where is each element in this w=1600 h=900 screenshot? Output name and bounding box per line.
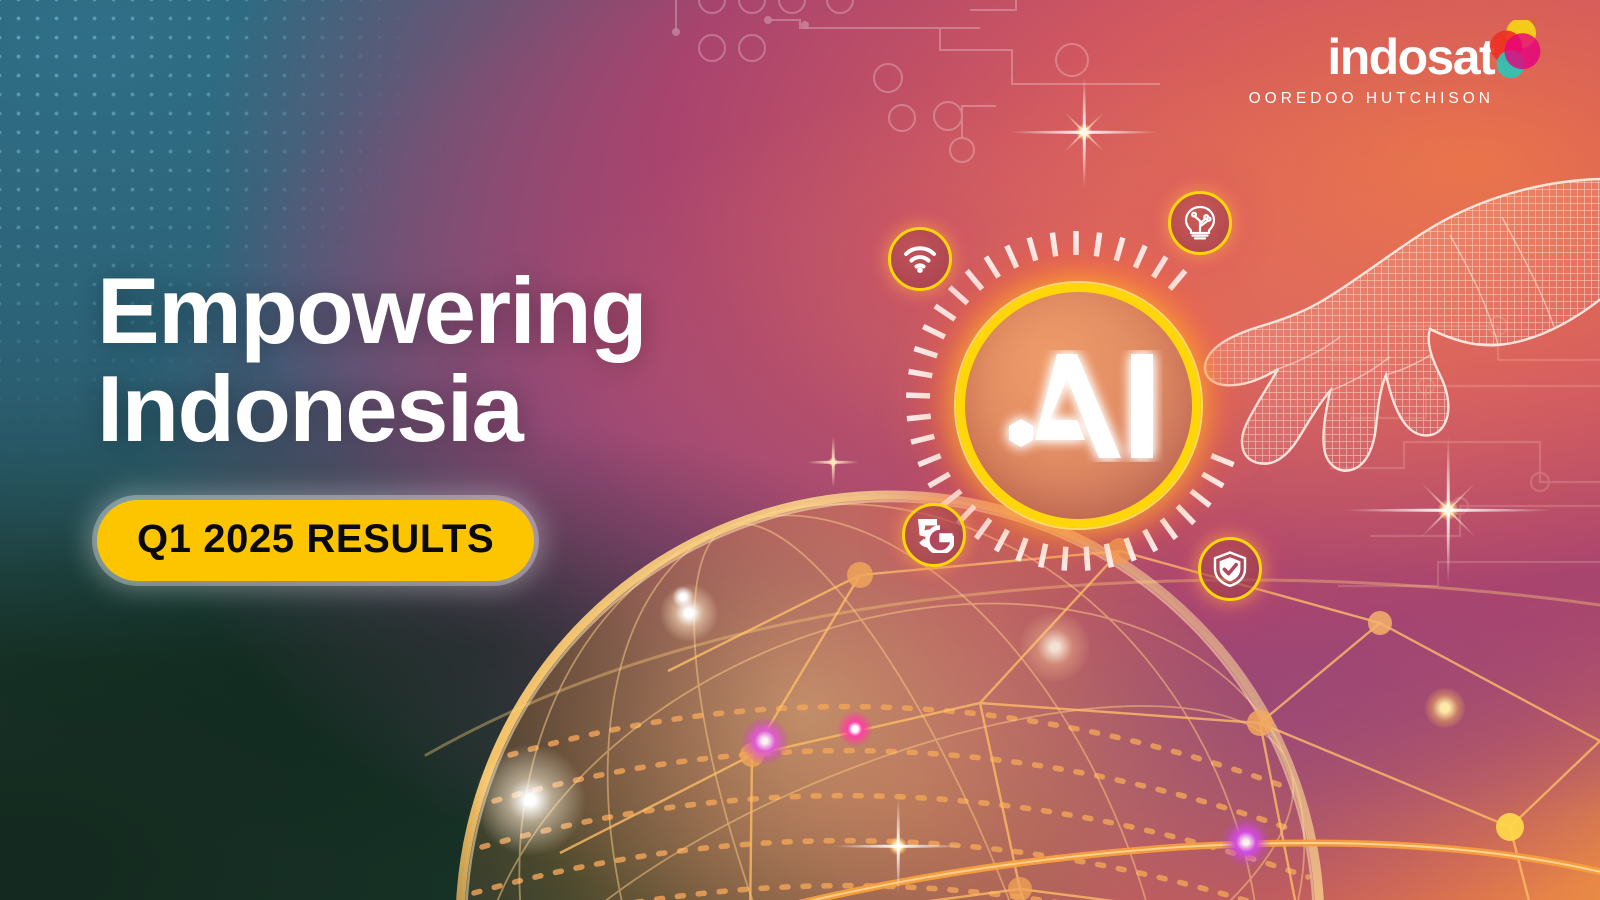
results-badge[interactable]: Q1 2025 RESULTS [97,500,534,581]
slide-canvas: Empowering Indonesia Q1 2025 RESULTS ind… [0,0,1600,900]
feature-icon-5g[interactable] [902,503,966,567]
headline-line-2: Indonesia [97,360,857,458]
shield-check-icon [1213,551,1247,587]
page-title: Empowering Indonesia [97,262,857,458]
brand-logo[interactable]: indosat OOREDOO HUTCHISON [1249,32,1494,108]
indosat-mark-icon [1484,20,1552,82]
ai-circle-badge[interactable] [956,283,1201,528]
headline-block: Empowering Indonesia Q1 2025 RESULTS [97,262,857,581]
logo-tagline: OOREDOO HUTCHISON [1249,90,1494,108]
feature-icon-shield[interactable] [1198,537,1262,601]
logo-wordmark: indosat [1249,32,1494,82]
wifi-icon [903,245,937,273]
ai-badge-cluster [880,185,1300,625]
five-g-icon [914,517,954,553]
headline-line-1: Empowering [97,258,646,363]
ai-letters-icon [995,350,1163,462]
lightbulb-circuit-icon [1183,205,1217,241]
feature-icon-wifi[interactable] [888,227,952,291]
feature-icon-lightbulb[interactable] [1168,191,1232,255]
ai-label [995,350,1163,462]
